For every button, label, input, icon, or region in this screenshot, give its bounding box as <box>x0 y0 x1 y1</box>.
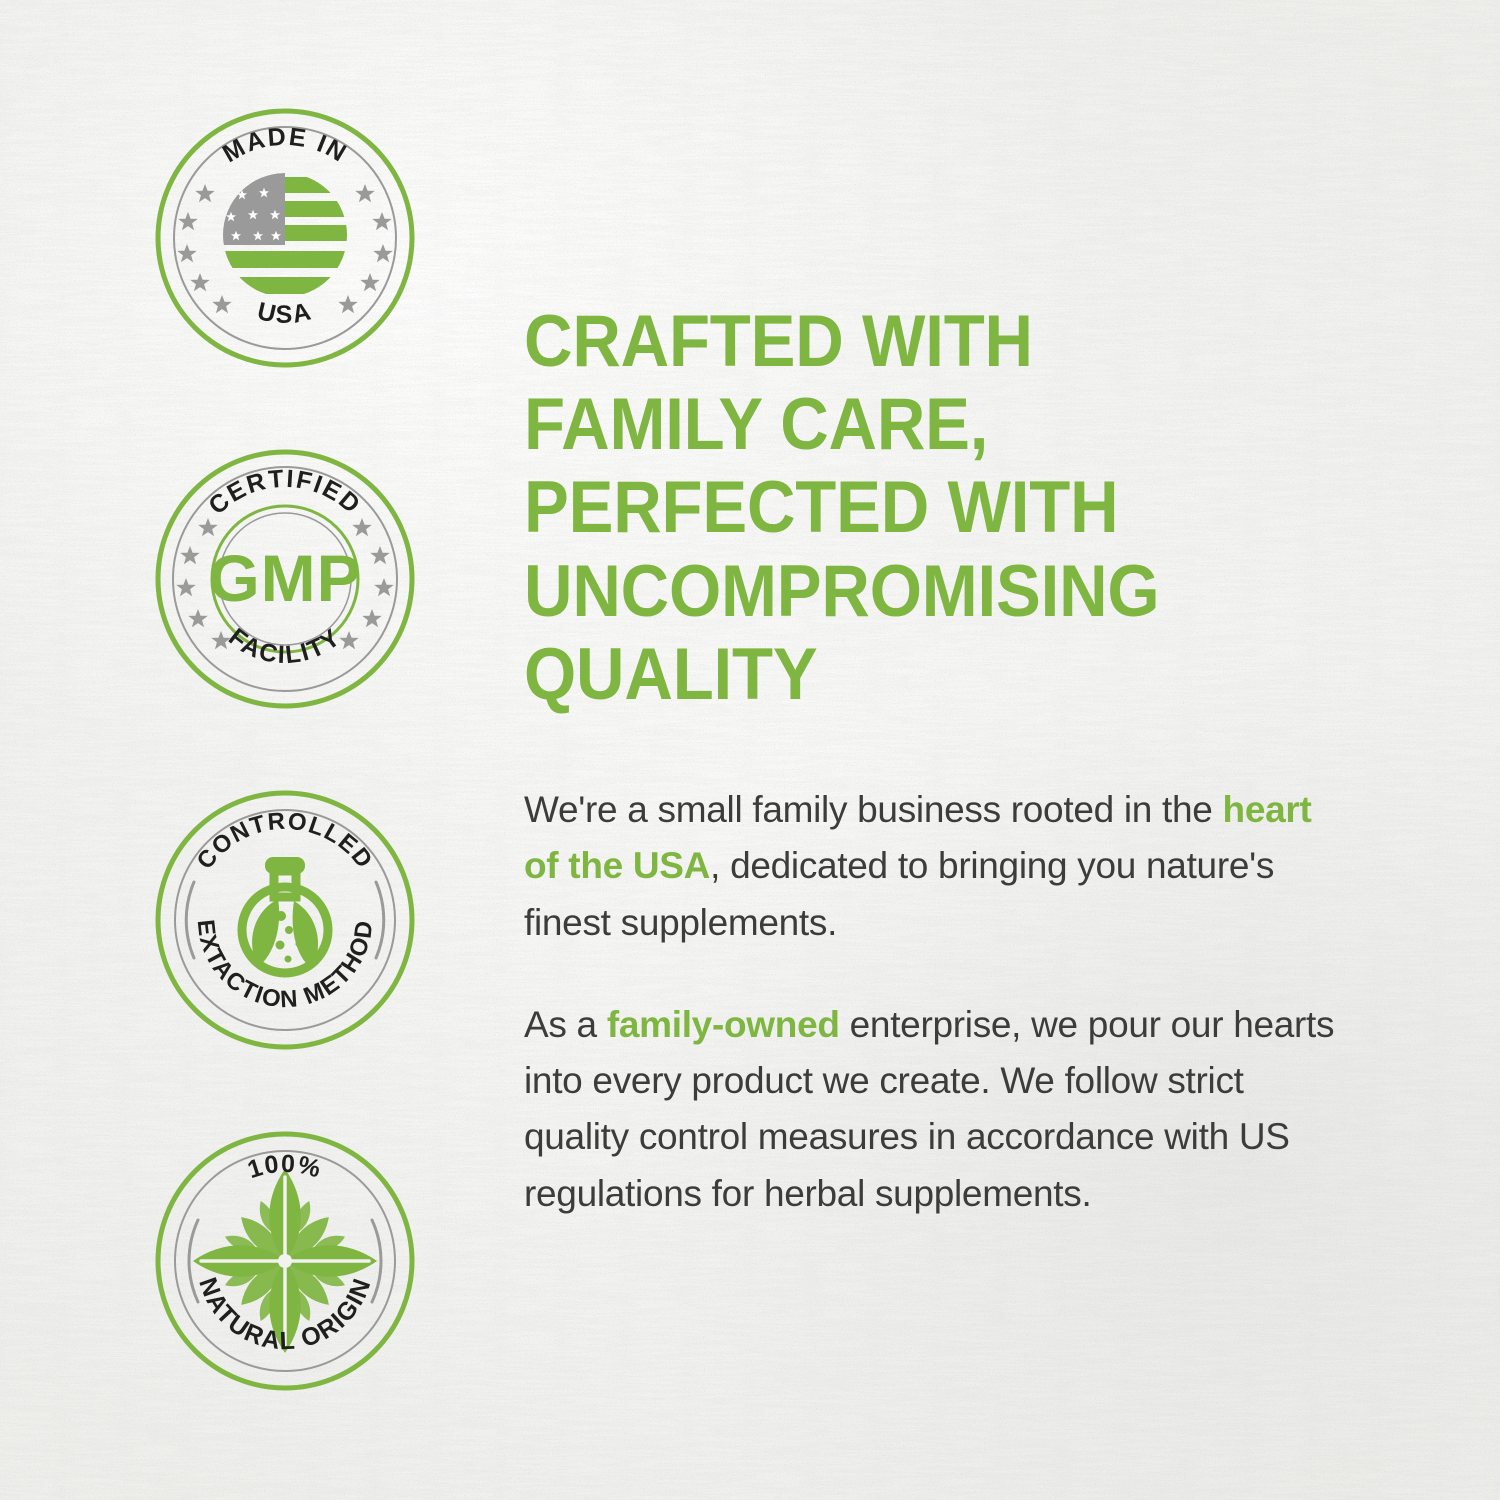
emphasised-text: family-owned <box>607 1004 840 1045</box>
badge-made-in-usa: MADE IN USA <box>152 105 418 371</box>
infographic-page: MADE IN USA <box>0 0 1500 1500</box>
usa-flag-icon <box>214 173 356 294</box>
badge-natural-origin: 100% NATURAL ORIGIN <box>152 1128 418 1394</box>
flask-leaf-icon <box>242 857 328 973</box>
badge-controlled-extraction-method: CONTROLLED EXTACTION METHOD <box>152 787 418 1053</box>
paragraph-one: We're a small family business rooted in … <box>524 782 1354 951</box>
certification-badge-column: MADE IN USA <box>152 105 422 1469</box>
badge-bottom-label: USA <box>255 297 316 329</box>
paragraph-two: As a family-owned enterprise, we pour ou… <box>524 997 1354 1222</box>
gmp-text-icon: GMP <box>208 541 361 615</box>
badge-bottom-label: FACILITY <box>223 623 346 670</box>
marketing-copy-column: CRAFTED WITH FAMILY CARE, PERFECTED WITH… <box>524 300 1354 1222</box>
badge-top-label: MADE IN <box>218 123 352 169</box>
badge-gmp-certified-facility: GMP CERTIFIED FACILITY <box>152 446 418 712</box>
badge-top-label: CERTIFIED <box>203 465 366 520</box>
page-headline: CRAFTED WITH FAMILY CARE, PERFECTED WITH… <box>524 300 1288 716</box>
badge-bottom-label: EXTACTION METHOD <box>192 918 379 1013</box>
emphasised-text: heart of the USA <box>524 789 1312 886</box>
